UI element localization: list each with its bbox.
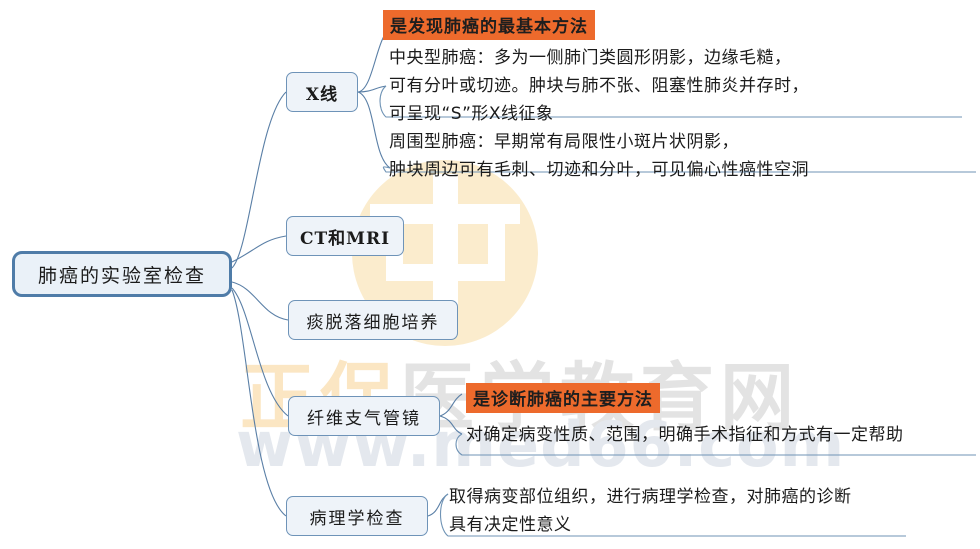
edge-pathology-to-para [428, 494, 448, 516]
branch-node-bronchoscopy[interactable]: 纤维支气管镜 [288, 396, 440, 436]
branch-label-bronchoscopy: 纤维支气管镜 [307, 404, 421, 429]
edge-root-to-ctmri [232, 236, 286, 262]
paragraph-pathology-detail: 取得病变部位组织，进行病理学检查，对肺癌的诊断 具有决定性意义 [449, 483, 852, 539]
root-node-label: 肺癌的实验室检查 [38, 261, 206, 288]
mindmap-canvas: 正保医学教育网 www.med66.com 肺癌的实验室检查 X线 CT和M [0, 0, 980, 549]
edge-root-to-bronchoscopy [232, 288, 288, 416]
branch-label-pathology: 病理学检查 [310, 504, 405, 529]
edge-root-to-pathology [232, 290, 286, 516]
edge-bronchoscopy-to-para [440, 416, 462, 434]
branch-node-pathology[interactable]: 病理学检查 [286, 496, 428, 536]
edge-root-to-xray [232, 92, 286, 268]
branch-label-xray: X线 [306, 80, 338, 105]
branch-node-ct-mri[interactable]: CT和MRI [286, 216, 404, 256]
paragraph-bronchoscopy-detail: 对确定病变性质、范围，明确手术指征和方式有一定帮助 [466, 421, 904, 449]
branch-label-ct-mri: CT和MRI [300, 224, 390, 249]
banner-bronchoscopy-main-method: 是诊断肺癌的主要方法 [466, 383, 660, 413]
branch-label-sputum: 痰脱落细胞培养 [307, 308, 440, 333]
root-node[interactable]: 肺癌的实验室检查 [12, 251, 232, 297]
edge-xray-to-para1 [358, 86, 386, 92]
banner-xray-basic-method: 是发现肺癌的最基本方法 [383, 10, 595, 40]
paragraph-xray-peripheral-type: 周围型肺癌：早期常有局限性小斑片状阴影， 肿块周边可有毛刺、切迹和分叶，可见偏心… [389, 128, 809, 184]
branch-node-xray[interactable]: X线 [286, 72, 358, 112]
edge-root-to-sputum [232, 282, 288, 320]
edge-bronchoscopy-to-banner [440, 394, 462, 416]
edge-xray-to-para2 [358, 92, 390, 168]
paragraph-xray-central-type: 中央型肺癌：多为一侧肺门类圆形阴影，边缘毛糙， 可有分叶或切迹。肿块与肺不张、阻… [389, 44, 809, 128]
branch-node-sputum[interactable]: 痰脱落细胞培养 [288, 300, 458, 340]
